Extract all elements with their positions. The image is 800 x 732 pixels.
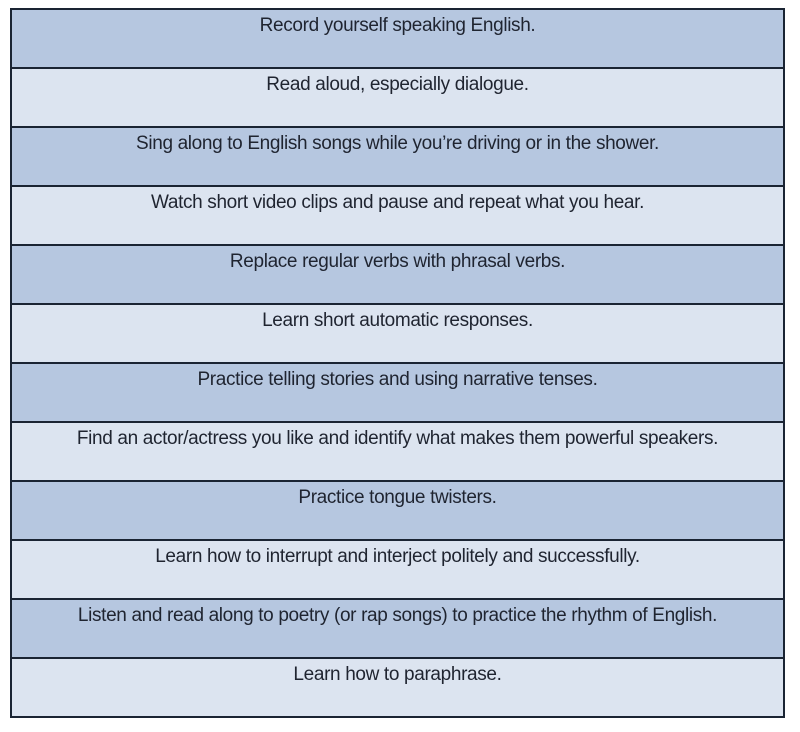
tip-cell: Learn how to interrupt and interject pol…: [11, 540, 784, 599]
tips-table: Record yourself speaking English. Read a…: [10, 8, 785, 718]
tip-cell: Find an actor/actress you like and ident…: [11, 422, 784, 481]
table-row: Learn how to paraphrase.: [11, 658, 784, 717]
table-row: Learn short automatic responses.: [11, 304, 784, 363]
tip-cell: Listen and read along to poetry (or rap …: [11, 599, 784, 658]
tip-cell: Learn how to paraphrase.: [11, 658, 784, 717]
table-row: Practice telling stories and using narra…: [11, 363, 784, 422]
table-row: Learn how to interrupt and interject pol…: [11, 540, 784, 599]
tip-cell: Watch short video clips and pause and re…: [11, 186, 784, 245]
table-row: Listen and read along to poetry (or rap …: [11, 599, 784, 658]
tips-table-body: Record yourself speaking English. Read a…: [11, 9, 784, 717]
tip-cell: Record yourself speaking English.: [11, 9, 784, 68]
table-row: Replace regular verbs with phrasal verbs…: [11, 245, 784, 304]
table-row: Record yourself speaking English.: [11, 9, 784, 68]
tip-cell: Replace regular verbs with phrasal verbs…: [11, 245, 784, 304]
tip-cell: Read aloud, especially dialogue.: [11, 68, 784, 127]
table-row: Watch short video clips and pause and re…: [11, 186, 784, 245]
table-row: Read aloud, especially dialogue.: [11, 68, 784, 127]
tip-cell: Sing along to English songs while you’re…: [11, 127, 784, 186]
tip-cell: Practice tongue twisters.: [11, 481, 784, 540]
table-row: Find an actor/actress you like and ident…: [11, 422, 784, 481]
table-row: Sing along to English songs while you’re…: [11, 127, 784, 186]
tip-cell: Practice telling stories and using narra…: [11, 363, 784, 422]
tip-cell: Learn short automatic responses.: [11, 304, 784, 363]
table-row: Practice tongue twisters.: [11, 481, 784, 540]
